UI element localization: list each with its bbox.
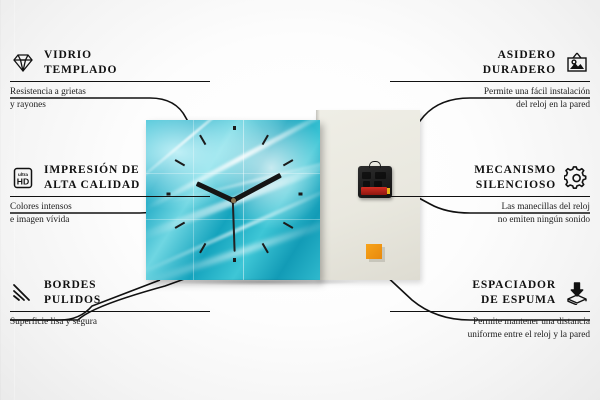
- divider: [10, 196, 210, 197]
- feature-title: VIDRIO TEMPLADO: [44, 48, 117, 77]
- gear-icon: [564, 166, 590, 190]
- feature-title: ESPACIADOR DE ESPUMA: [472, 278, 556, 307]
- feature-mecanismo-silencioso[interactable]: MECANISMO SILENCIOSO Las manecillas del …: [390, 163, 590, 226]
- feature-vidrio-templado[interactable]: VIDRIO TEMPLADO Resistencia a grietas y …: [10, 48, 210, 111]
- mechanism-battery: [361, 187, 387, 195]
- clock-center-pin: [231, 198, 236, 203]
- divider: [390, 196, 590, 197]
- feature-bordes-pulidos[interactable]: BORDES PULIDOS Superficie lisa y segura: [10, 278, 210, 329]
- mechanism-hanger-hook: [369, 161, 381, 168]
- diamond-icon: [10, 51, 36, 75]
- divider: [10, 81, 210, 82]
- feature-title: IMPRESIÓN DE ALTA CALIDAD: [44, 163, 140, 192]
- feature-title: BORDES PULIDOS: [44, 278, 101, 307]
- foam-spacer: [366, 244, 382, 259]
- feature-espaciador-de-espuma[interactable]: ESPACIADOR DE ESPUMA Permite mantener un…: [390, 278, 590, 341]
- ultra-hd-badge-icon: ultra HD: [10, 166, 36, 190]
- divider: [10, 311, 210, 312]
- feature-description: Permite mantener una distancia uniforme …: [390, 316, 590, 341]
- feature-description: Resistencia a grietas y rayones: [10, 86, 210, 111]
- feature-asidero-duradero[interactable]: ASIDERO DURADERO Permite una fácil insta…: [390, 48, 590, 111]
- hanging-frame-icon: [564, 51, 590, 75]
- feature-description: Permite una fácil instalación del reloj …: [390, 86, 590, 111]
- feature-description: Las manecillas del reloj no emiten ningú…: [390, 201, 590, 226]
- divider: [390, 81, 590, 82]
- feature-description: Colores intensos e imagen vívida: [10, 201, 210, 226]
- feature-title: MECANISMO SILENCIOSO: [474, 163, 556, 192]
- polished-edges-icon: [10, 281, 36, 305]
- svg-text:HD: HD: [17, 176, 29, 186]
- foam-spacer-arrow-icon: [564, 281, 590, 305]
- clock-mechanism: [358, 166, 392, 198]
- clock-second-hand: [232, 200, 235, 252]
- feature-impresion-alta-calidad[interactable]: ultra HD IMPRESIÓN DE ALTA CALIDAD Color…: [10, 163, 210, 226]
- divider: [390, 311, 590, 312]
- feature-title: ASIDERO DURADERO: [483, 48, 556, 77]
- feature-description: Superficie lisa y segura: [10, 316, 210, 328]
- infographic-canvas: VIDRIO TEMPLADO Resistencia a grietas y …: [0, 0, 600, 400]
